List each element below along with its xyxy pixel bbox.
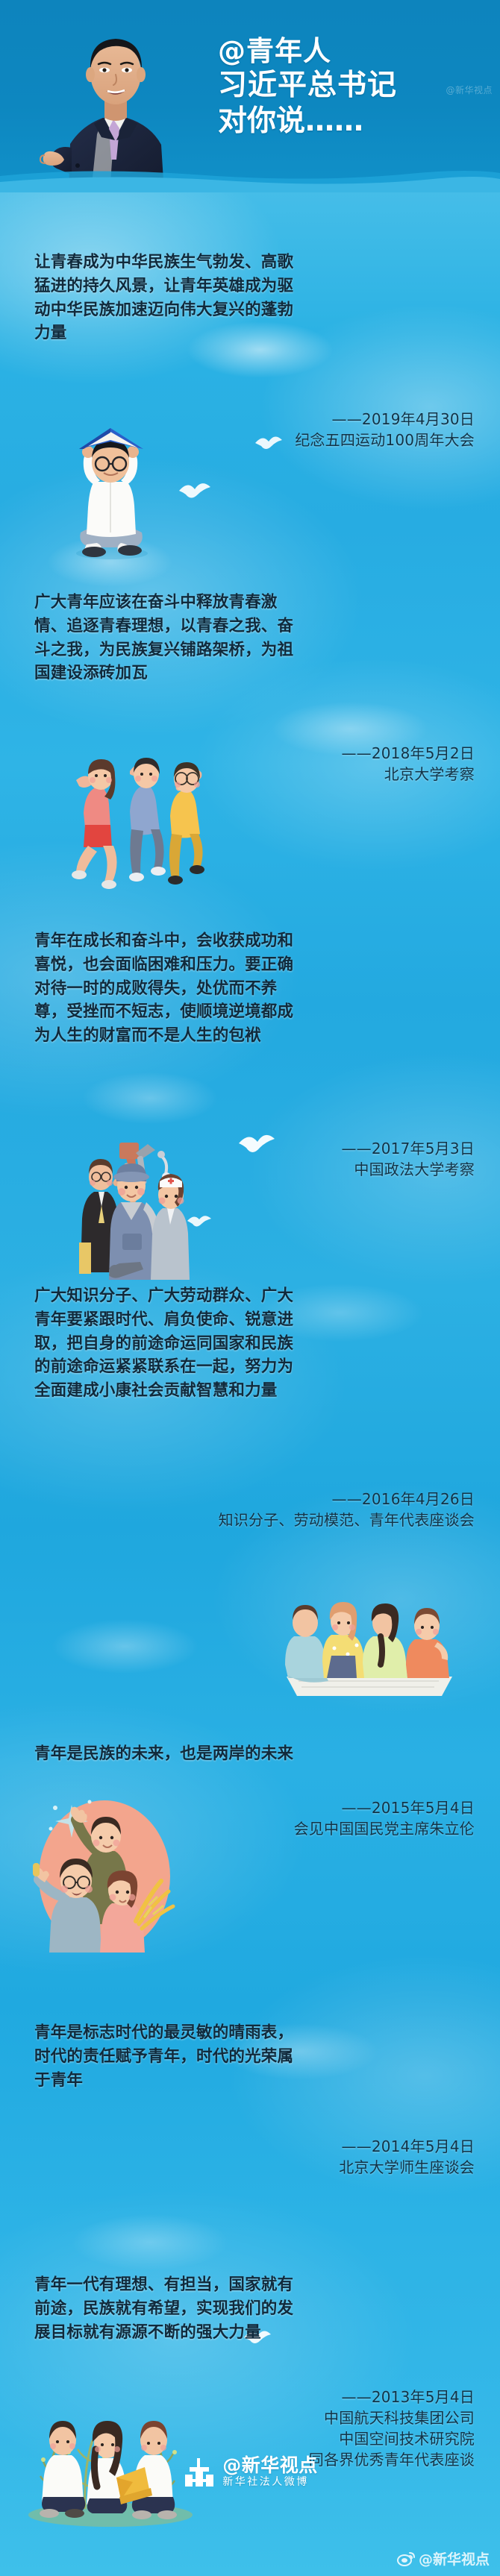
title-line-2: 习近平总书记 [218,68,397,104]
quote-line: 国建设添砖加瓦 [34,662,475,685]
quote-line: 力量 [34,321,475,345]
quote-1-attribution: ——2019年4月30日 纪念五四运动100周年大会 [124,409,475,450]
quote-5-attribution: ——2015年5月4日 会见中国国民党主席朱立伦 [124,1797,475,1839]
title-line-1: @青年人 [218,34,397,68]
quote-line: 情、追逐青春理想，以青春之我、奋 [34,615,475,638]
attribution-date: ——2017年5月3日 [124,1138,475,1159]
quote-line: 青年在成长和奋斗中，会收获成功和 [34,929,475,953]
quote-line: 青年一代有理想、有担当，国家就有 [34,2273,475,2297]
weibo-handle: @新华视点 [419,2548,490,2569]
attribution-date: ——2018年5月2日 [124,743,475,764]
quote-2-text: 广大青年应该在奋斗中释放青春激 情、追逐青春理想，以青春之我、奋 斗之我，为民族… [34,591,475,685]
quote-line: 广大青年应该在奋斗中释放青春激 [34,591,475,615]
attribution-occasion: 中国政法大学考察 [124,1159,475,1180]
dove-icon [178,477,212,503]
attribution-occasion: 纪念五四运动100周年大会 [124,430,475,450]
quote-line: 喜悦，也会面临困难和压力。要正确 [34,953,475,977]
quote-line: 于青年 [34,2069,475,2093]
title-line-3: 对你说…… [218,104,397,139]
quote-5-text: 青年是民族的未来，也是两岸的未来 [34,1742,475,1766]
attribution-date: ——2016年4月26日 [57,1489,475,1510]
quote-line: 为人生的财富而不是人生的包袱 [34,1024,475,1048]
attribution-occasion: 知识分子、劳动模范、青年代表座谈会 [57,1510,475,1530]
quote-7-text: 青年一代有理想、有担当，国家就有 前途，民族就有希望，实现我们的发 展目标就有源… [34,2273,475,2344]
portrait-photo [39,6,188,192]
quote-1-text: 让青春成为中华民族生气勃发、高歌 猛进的持久风景，让青年英雄成为驱 动中华民族加… [34,251,475,345]
quote-line: 的前途命运紧紧联系在一起，努力为 [34,1355,475,1379]
quote-line: 尊，受挫而不短志，使顺境逆境都成 [34,1000,475,1024]
quote-2-attribution: ——2018年5月2日 北京大学考察 [124,743,475,785]
weibo-watermark: @新华视点 [397,2548,490,2569]
quote-4-text: 广大知识分子、广大劳动群众、广大 青年要紧跟时代、肩负使命、锐意进 取，把自身的… [34,1284,475,1403]
logo-main-text: @新华视点 [222,2456,318,2475]
top-watermark: @新华视点 [446,84,493,96]
attribution-occasion: 会见中国国民党主席朱立伦 [124,1818,475,1839]
quote-line: 猛进的持久风景，让青年英雄成为驱 [34,274,475,298]
four-youths-talking-illustration [284,1565,455,1699]
quote-6-attribution: ——2014年5月4日 北京大学师生座谈会 [124,2136,475,2178]
poster-body: 让青春成为中华民族生气勃发、高歌 猛进的持久风景，让青年英雄成为驱 动中华民族加… [0,192,500,2576]
quote-line: 取，把自身的前途命运同国家和民族 [34,1332,475,1356]
header-wave-divider [0,167,500,192]
quote-line: 时代的责任赋予青年，时代的光荣属 [34,2045,475,2069]
dove-icon [187,1211,212,1231]
quote-4-attribution: ——2016年4月26日 知识分子、劳动模范、青年代表座谈会 [57,1489,475,1530]
xinhua-logo[interactable]: @新华视点 新华社法人微博 [0,2456,500,2488]
quote-3-text: 青年在成长和奋斗中，会收获成功和 喜悦，也会面临困难和压力。要正确 对待一时的成… [34,929,475,1048]
poster-header: @青年人 习近平总书记 对你说…… @新华视点 [0,0,500,192]
quote-3-attribution: ——2017年5月3日 中国政法大学考察 [124,1138,475,1180]
attribution-date: ——2019年4月30日 [124,409,475,430]
quote-line: 动中华民族加速迈向伟大复兴的蓬勃 [34,298,475,322]
quote-line: 前途，民族就有希望，实现我们的发 [34,2297,475,2321]
attribution-date: ——2014年5月4日 [124,2136,475,2157]
logo-sub-text: 新华社法人微博 [222,2477,318,2488]
quote-line: 对待一时的成败得失，处优而不养 [34,977,475,1001]
xinhua-logo-icon [182,2457,216,2488]
quote-line: 全面建成小康社会贡献智慧和力量 [34,1379,475,1403]
quote-line: 展目标就有源源不断的强大力量 [34,2321,475,2345]
quote-6-text: 青年是标志时代的最灵敏的晴雨表， 时代的责任赋予青年，时代的光荣属 于青年 [34,2021,475,2092]
attribution-occasion: 北京大学师生座谈会 [124,2157,475,2178]
quote-line: 广大知识分子、广大劳动群众、广大 [34,1284,475,1308]
quote-line: 青年是民族的未来，也是两岸的未来 [34,1742,475,1766]
attribution-date: ——2015年5月4日 [124,1797,475,1818]
weibo-icon [397,2551,415,2566]
quote-line: 斗之我，为民族复兴铺路架桥，为祖 [34,638,475,662]
quote-line: 青年要紧跟时代、肩负使命、锐意进 [34,1308,475,1332]
poster-title: @青年人 习近平总书记 对你说…… [218,34,397,139]
poster-footer: @新华视点 新华社法人微博 @新华视点 [0,2390,500,2576]
quote-line: 青年是标志时代的最灵敏的晴雨表， [34,2021,475,2045]
quote-line: 让青春成为中华民族生气勃发、高歌 [34,251,475,274]
attribution-occasion: 北京大学考察 [124,764,475,785]
